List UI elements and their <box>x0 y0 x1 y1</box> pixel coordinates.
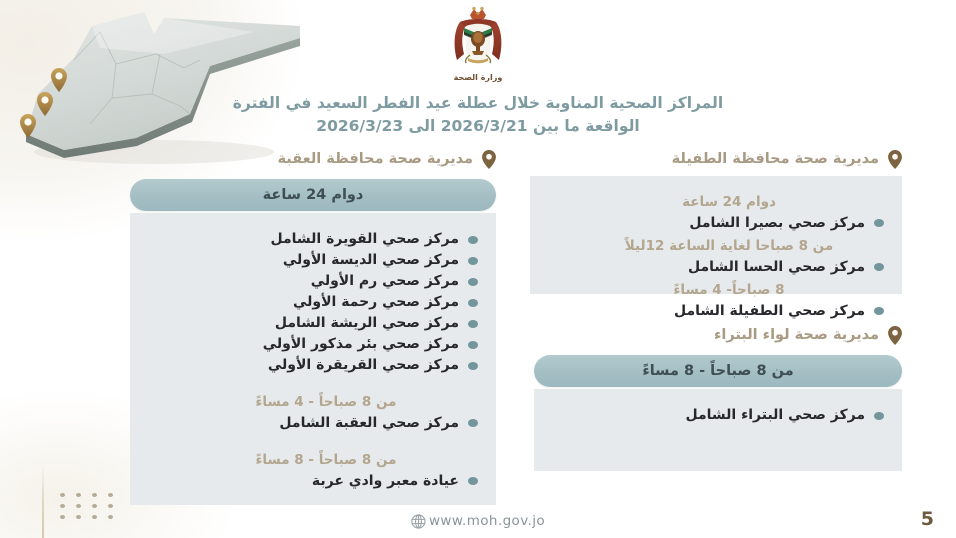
list-item: مركز صحي رم الأولي <box>146 271 480 292</box>
center-name: مركز صحي الطفيلة الشامل <box>674 301 865 322</box>
schedule-card-tafila: دوام 24 ساعة مركز صحي بصيرا الشامل من 8 … <box>530 176 902 294</box>
schedule-group: دوام 24 ساعة مركز صحي بصيرا الشامل <box>546 192 886 234</box>
schedule-group: من 8 صباحاً - 4 مساءً مركز صحي العقبة ال… <box>146 392 480 434</box>
bullet-icon <box>874 219 884 227</box>
list-item: مركز صحي القريقرة الأولي <box>146 355 480 376</box>
time-label: دوام 24 ساعة <box>546 192 886 213</box>
list-item: مركز صحي القويرة الشامل <box>146 229 480 250</box>
emblem-caption: وزارة الصحة <box>426 73 530 82</box>
jordan-coat-of-arms-icon <box>446 6 510 72</box>
time-label: من 8 صباحاً - 4 مساءً <box>146 392 480 413</box>
ministry-emblem: وزارة الصحة <box>426 6 530 88</box>
schedule-card-aqaba: مركز صحي القويرة الشامل مركز صحي الديسة … <box>130 213 496 505</box>
schedule-group: 8 صباحاً- 4 مساءً مركز صحي الطفيلة الشام… <box>546 280 886 322</box>
list-item: مركز صحي الديسة الأولي <box>146 250 480 271</box>
center-name: مركز صحي الحسا الشامل <box>688 257 865 278</box>
directorate-label-tafila: مديرية صحة محافظة الطفيلة <box>672 151 879 167</box>
bullet-icon <box>468 362 478 370</box>
schedule-group: مركز صحي القويرة الشامل مركز صحي الديسة … <box>146 229 480 376</box>
bullet-icon <box>468 257 478 265</box>
time-label: 8 صباحاً- 4 مساءً <box>546 280 886 301</box>
location-pin-icon <box>888 150 902 169</box>
list-item: مركز صحي البتراء الشامل <box>550 405 886 426</box>
center-name: مركز صحي القريقرة الأولي <box>268 355 459 376</box>
page-title-line-1: المراكز الصحية المناوبة خلال عطلة عيد ال… <box>233 94 723 112</box>
column-petra: مديرية صحة لواء البتراء من 8 صباحاً - 8 … <box>530 322 902 471</box>
directorate-heading-aqaba: مديرية صحة محافظة العقبة <box>126 146 496 172</box>
website-link[interactable]: www.moh.gov.jo <box>411 513 545 529</box>
website-text: www.moh.gov.jo <box>429 513 545 529</box>
list-item: مركز صحي الحسا الشامل <box>546 257 886 278</box>
page-footer: www.moh.gov.jo 5 <box>0 498 956 538</box>
list-item: عيادة معبر وادي عربة <box>146 471 480 492</box>
schedule-group: مركز صحي البتراء الشامل <box>550 405 886 426</box>
page-title-line-2: الواقعة ما بين 2026/3/21 الى 2026/3/23 <box>0 115 956 138</box>
schedule-card-petra: مركز صحي البتراء الشامل <box>534 389 902 471</box>
globe-icon <box>411 514 426 529</box>
bullet-icon <box>874 263 884 271</box>
page-number: 5 <box>921 508 934 530</box>
bullet-icon <box>468 320 478 328</box>
directorate-heading-petra: مديرية صحة لواء البتراء <box>530 322 902 348</box>
list-item: مركز صحي رحمة الأولي <box>146 292 480 313</box>
column-aqaba: مديرية صحة محافظة العقبة دوام 24 ساعة مر… <box>126 146 496 505</box>
center-name: عيادة معبر وادي عربة <box>312 471 459 492</box>
jordan-map-illustration <box>4 2 306 168</box>
center-name: مركز صحي البتراء الشامل <box>685 405 865 426</box>
bullet-icon <box>874 412 884 420</box>
schedule-group: من 8 صباحاً - 8 مساءً عيادة معبر وادي عر… <box>146 450 480 492</box>
list-item: مركز صحي العقبة الشامل <box>146 413 480 434</box>
list-item: مركز صحي الريشة الشامل <box>146 313 480 334</box>
bullet-icon <box>468 299 478 307</box>
location-pin-icon <box>888 326 902 345</box>
page-title: المراكز الصحية المناوبة خلال عطلة عيد ال… <box>0 92 956 139</box>
bullet-icon <box>468 477 478 485</box>
schedule-group: من 8 صباحا لغاية الساعة 12ليلاً مركز صحي… <box>546 236 886 278</box>
bullet-icon <box>468 278 478 286</box>
bullet-icon <box>468 341 478 349</box>
bullet-icon <box>874 307 884 315</box>
center-name: مركز صحي رم الأولي <box>311 271 459 292</box>
center-name: مركز صحي الديسة الأولي <box>283 250 459 271</box>
schedule-pill-aqaba: دوام 24 ساعة <box>130 179 496 211</box>
list-item: مركز صحي الطفيلة الشامل <box>546 301 886 322</box>
bullet-icon <box>468 236 478 244</box>
decorative-stripe <box>42 464 44 538</box>
list-item: مركز صحي بصيرا الشامل <box>546 213 886 234</box>
center-name: مركز صحي القويرة الشامل <box>271 229 460 250</box>
time-label: من 8 صباحا لغاية الساعة 12ليلاً <box>546 236 886 257</box>
directorate-heading-tafila: مديرية صحة محافظة الطفيلة <box>530 146 902 172</box>
center-name: مركز صحي الريشة الشامل <box>275 313 459 334</box>
center-name: مركز صحي بئر مذكور الأولي <box>263 334 459 355</box>
bullet-icon <box>468 419 478 427</box>
decorative-dot-grid <box>58 489 113 522</box>
center-name: مركز صحي رحمة الأولي <box>293 292 459 313</box>
schedule-pill-petra: من 8 صباحاً - 8 مساءً <box>534 355 902 387</box>
directorate-label-petra: مديرية صحة لواء البتراء <box>714 327 879 343</box>
time-label: من 8 صباحاً - 8 مساءً <box>146 450 480 471</box>
directorate-label-aqaba: مديرية صحة محافظة العقبة <box>278 151 474 167</box>
list-item: مركز صحي بئر مذكور الأولي <box>146 334 480 355</box>
infographic-page: وزارة الصحة المراكز الصحية المناوبة خلال… <box>0 0 956 538</box>
column-tafila: مديرية صحة محافظة الطفيلة دوام 24 ساعة م… <box>530 146 902 471</box>
center-name: مركز صحي بصيرا الشامل <box>689 213 865 234</box>
location-pin-icon <box>482 150 496 169</box>
center-name: مركز صحي العقبة الشامل <box>279 413 459 434</box>
